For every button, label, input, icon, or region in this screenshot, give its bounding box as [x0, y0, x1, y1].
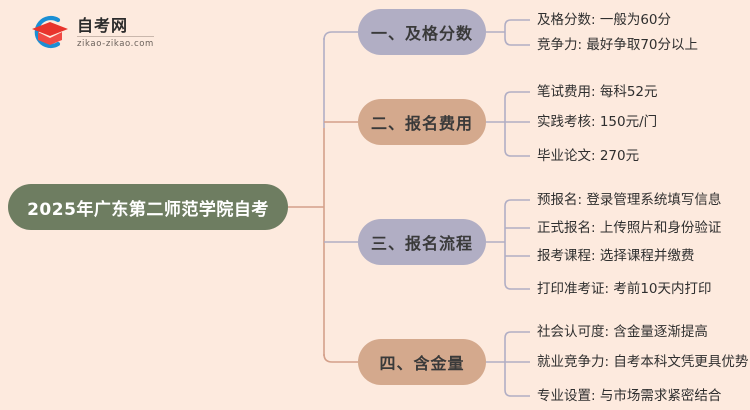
mindmap-root-node[interactable]: 2025年广东第二师范学院自考	[8, 184, 288, 230]
mindmap-leaf[interactable]: 打印准考证: 考前10天内打印	[537, 281, 712, 297]
mindmap-branch-1[interactable]: 一、及格分数	[358, 9, 486, 55]
mindmap-branch-4[interactable]: 四、含金量	[358, 339, 486, 385]
mindmap-leaf[interactable]: 正式报名: 上传照片和身份验证	[537, 220, 721, 236]
mindmap-leaf[interactable]: 及格分数: 一般为60分	[537, 12, 671, 28]
mindmap-leaf[interactable]: 就业竞争力: 自考本科文凭更具优势	[537, 354, 748, 370]
mindmap-leaf[interactable]: 笔试费用: 每科52元	[537, 84, 658, 100]
mindmap-branch-2[interactable]: 二、报名费用	[358, 99, 486, 145]
mindmap-leaf[interactable]: 竞争力: 最好争取70分以上	[537, 37, 698, 53]
mindmap-canvas: 自考网 zikao-zikao.com 2025年广东第二师范学院自考 一、及格…	[0, 0, 750, 410]
mindmap-leaf[interactable]: 专业设置: 与市场需求紧密结合	[537, 388, 721, 404]
graduation-cap-icon	[28, 12, 70, 52]
mindmap-branch-3[interactable]: 三、报名流程	[358, 219, 486, 265]
mindmap-leaf[interactable]: 预报名: 登录管理系统填写信息	[537, 192, 721, 208]
site-watermark: 自考网 zikao-zikao.com	[28, 12, 154, 52]
watermark-domain: zikao-zikao.com	[77, 37, 154, 49]
mindmap-leaf[interactable]: 实践考核: 150元/门	[537, 114, 657, 130]
mindmap-leaf[interactable]: 报考课程: 选择课程并缴费	[537, 248, 694, 264]
watermark-brand: 自考网	[77, 18, 154, 37]
mindmap-leaf[interactable]: 社会认可度: 含金量逐渐提高	[537, 324, 708, 340]
mindmap-leaf[interactable]: 毕业论文: 270元	[537, 148, 639, 164]
